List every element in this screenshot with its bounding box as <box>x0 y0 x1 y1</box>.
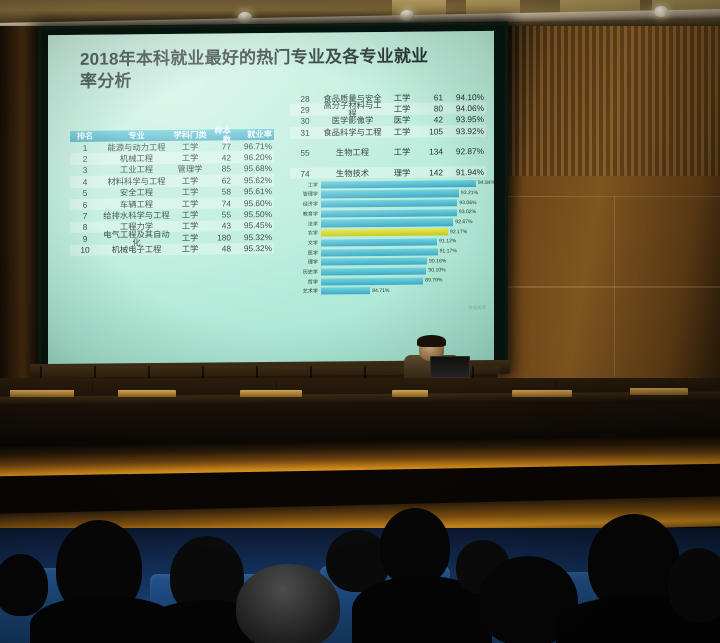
bar-fill <box>321 219 453 227</box>
employment-table-right: 28食品质量与安全工学6194.10%29高分子材料与工程工学8094.06%3… <box>290 91 486 188</box>
cell-discipline: 工学 <box>173 245 207 254</box>
right-wall-slats <box>498 26 720 176</box>
bar-value-label: 89.79% <box>425 278 442 284</box>
cell-rank: 2 <box>70 155 100 164</box>
cell-rate: 95.45% <box>234 221 274 230</box>
cell-major: 材料科学与工程 <box>100 177 173 186</box>
cell-rank: 74 <box>290 169 320 178</box>
microphone-icon <box>276 381 277 390</box>
cell-rate: 93.92% <box>446 127 486 136</box>
cell-major: 车辆工程 <box>100 199 173 208</box>
lecture-hall-photo: 2018年本科就业最好的热门专业及各专业就业率分析 排名 专业 学科门类 样本数… <box>0 0 720 643</box>
bar-row: 工学94.84% <box>288 179 488 190</box>
bar-track: 90.16% <box>321 257 488 266</box>
cell-discipline: 工学 <box>385 93 419 102</box>
bar-category-label: 教育学 <box>288 210 321 217</box>
bar-value-label: 94.84% <box>478 180 494 186</box>
bar-row: 艺术学84.71% <box>288 285 488 296</box>
bar-category-label: 经济学 <box>288 201 321 208</box>
bar-fill <box>321 267 426 275</box>
cell-discipline: 工学 <box>385 148 419 157</box>
cell-major: 医学影像学 <box>320 116 385 125</box>
cell-sample: 142 <box>419 168 446 177</box>
cell-rank: 29 <box>290 105 320 114</box>
wall-seam <box>498 286 720 288</box>
cell-rank: 7 <box>70 212 100 221</box>
ceiling-spotlight-icon <box>238 12 252 23</box>
cell-rank: 10 <box>70 246 100 255</box>
cell-rate: 95.68% <box>234 164 274 173</box>
bar-category-label: 哲学 <box>288 278 321 285</box>
bar-fill <box>321 190 459 199</box>
employment-table-left: 排名 专业 学科门类 样本数 就业率 1能源与动力工程工学7796.71%2机械… <box>70 129 274 256</box>
cell-rate: 95.50% <box>234 210 274 219</box>
slide-title: 2018年本科就业最好的热门专业及各专业就业率分析 <box>80 45 430 93</box>
cell-rank: 8 <box>70 223 100 232</box>
cell-rank: 6 <box>70 200 100 209</box>
discipline-employment-bar-chart: 工学94.84%管理学93.21%经济学93.06%教育学93.02%法学92.… <box>288 179 488 311</box>
col-rank: 排名 <box>70 132 100 141</box>
cell-sample: 134 <box>419 147 446 156</box>
cell-sample: 80 <box>419 104 446 113</box>
bar-value-label: 91.17% <box>440 248 457 254</box>
microphone-icon <box>556 380 557 389</box>
cell-sample: 42 <box>419 116 446 125</box>
cell-rate: 95.60% <box>234 198 274 207</box>
cell-discipline: 工学 <box>173 199 207 208</box>
nameplate <box>118 390 176 397</box>
cell-discipline: 理学 <box>385 168 419 177</box>
bar-track: 91.17% <box>321 247 488 256</box>
chart-watermark: 数据来源 <box>468 305 486 311</box>
bar-value-label: 91.12% <box>439 239 456 245</box>
bar-row: 法学92.67% <box>288 218 488 229</box>
cell-rate: 94.06% <box>446 104 486 113</box>
bar-category-label: 艺术学 <box>288 288 321 295</box>
cell-sample: 62 <box>207 176 234 185</box>
cell-discipline: 工学 <box>173 233 207 242</box>
bar-row: 教育学93.02% <box>288 208 488 219</box>
ceiling-spotlight-icon <box>400 10 414 21</box>
audience-head <box>380 508 450 586</box>
bar-track: 93.21% <box>321 189 488 198</box>
cell-major: 食品科学与工程 <box>320 128 385 137</box>
projection-screen: 2018年本科就业最好的热门专业及各专业就业率分析 排名 专业 学科门类 样本数… <box>48 31 494 365</box>
bar-row: 理学90.16% <box>288 256 488 267</box>
bar-track: 89.79% <box>321 277 488 286</box>
cell-rank: 55 <box>290 149 320 158</box>
nameplate <box>240 390 302 397</box>
bar-fill <box>321 209 457 217</box>
bar-track: 91.12% <box>321 238 488 247</box>
bar-row: 经济学93.06% <box>288 198 488 209</box>
bar-category-label: 工学 <box>288 181 321 188</box>
cell-major: 机械电子工程 <box>100 245 173 254</box>
cell-major: 生物技术 <box>320 168 385 177</box>
bar-fill <box>321 180 476 189</box>
bar-fill <box>321 277 423 285</box>
bar-fill <box>321 248 438 256</box>
col-rate: 就业率 <box>234 130 274 139</box>
bar-fill <box>321 199 457 207</box>
cell-sample: 55 <box>207 210 234 219</box>
cell-rate: 95.62% <box>234 176 274 185</box>
cell-major: 机械工程 <box>100 154 173 163</box>
cell-rank: 28 <box>290 94 320 103</box>
bar-track: 93.02% <box>321 209 488 218</box>
cell-rank: 4 <box>70 177 100 186</box>
bar-fill <box>321 238 437 246</box>
cell-sample: 48 <box>207 244 234 253</box>
audience-head <box>668 548 720 622</box>
bar-row: 文学91.12% <box>288 237 488 248</box>
cell-major: 工业工程 <box>100 165 173 174</box>
nameplate <box>630 388 688 395</box>
bar-row: 医学91.17% <box>288 247 488 258</box>
cell-rate: 93.95% <box>446 115 486 124</box>
cell-discipline: 工学 <box>385 127 419 136</box>
bar-value-label: 93.02% <box>459 209 476 215</box>
cell-sample: 61 <box>419 93 446 102</box>
bar-value-label: 90.10% <box>428 268 445 274</box>
cell-rate: 95.32% <box>234 244 274 253</box>
cell-sample: 74 <box>207 199 234 208</box>
cell-major: 安全工程 <box>100 188 173 197</box>
nameplate <box>512 390 572 397</box>
cell-discipline: 工学 <box>385 105 419 114</box>
cell-rank: 3 <box>70 166 100 175</box>
ceiling-spotlight-icon <box>654 6 668 17</box>
cell-discipline: 工学 <box>173 222 207 231</box>
cell-rate: 95.61% <box>234 187 274 196</box>
presentation-slide: 2018年本科就业最好的热门专业及各专业就业率分析 排名 专业 学科门类 样本数… <box>48 31 494 365</box>
cell-sample: 58 <box>207 187 234 196</box>
cell-rank: 5 <box>70 189 100 198</box>
bar-track: 94.84% <box>321 180 488 189</box>
cell-rate: 96.71% <box>234 142 274 151</box>
bar-value-label: 90.16% <box>429 258 446 264</box>
bar-value-label: 92.17% <box>450 229 467 235</box>
cell-rate: 92.87% <box>446 147 486 156</box>
projection-screen-frame: 2018年本科就业最好的热门专业及各专业就业率分析 排名 专业 学科门类 样本数… <box>38 22 508 377</box>
bar-category-label: 医学 <box>288 249 321 256</box>
wall-seam <box>614 196 615 376</box>
cell-rate: 96.20% <box>234 153 274 162</box>
cell-major: 能源与动力工程 <box>100 143 173 152</box>
col-discipline: 学科门类 <box>173 131 207 140</box>
bar-category-label: 历史学 <box>288 269 321 276</box>
cell-discipline: 管理学 <box>173 165 207 174</box>
cell-major: 生物工程 <box>320 148 385 157</box>
bar-category-label: 农学 <box>288 230 321 237</box>
bar-track: 92.17% <box>321 228 488 237</box>
bar-category-label: 文学 <box>288 239 321 246</box>
presenter-hair <box>417 335 446 347</box>
wall-seam <box>498 196 720 197</box>
cell-discipline: 工学 <box>173 211 207 220</box>
cell-rank: 31 <box>290 128 320 137</box>
cell-discipline: 工学 <box>173 142 207 151</box>
nameplate <box>10 390 74 397</box>
bar-value-label: 93.21% <box>461 190 478 196</box>
bar-value-label: 93.06% <box>459 200 476 206</box>
cell-major: 给排水科学与工程 <box>100 211 173 220</box>
microphone-icon <box>92 382 93 391</box>
cell-sample: 180 <box>207 233 234 242</box>
bar-track: 92.67% <box>321 218 488 227</box>
audience-head-gray <box>236 564 340 643</box>
cell-discipline: 工学 <box>173 176 207 185</box>
bar-row: 哲学89.79% <box>288 276 488 287</box>
bar-track: 84.71% <box>321 286 488 295</box>
bar-row: 管理学93.21% <box>288 189 488 200</box>
cell-sample: 105 <box>419 127 446 136</box>
bar-fill <box>321 258 427 266</box>
bar-value-label: 84.71% <box>372 288 389 294</box>
bar-category-label: 管理学 <box>288 191 321 198</box>
nameplate <box>392 390 428 397</box>
cell-sample: 43 <box>207 222 234 231</box>
bar-fill <box>321 228 448 236</box>
bar-fill <box>321 287 370 295</box>
cell-rank: 1 <box>70 143 100 152</box>
bar-track: 93.06% <box>321 199 488 208</box>
bar-category-label: 法学 <box>288 220 321 227</box>
cell-discipline: 工学 <box>173 188 207 197</box>
cell-rank: 30 <box>290 117 320 126</box>
bar-row: 农学92.17% <box>288 227 488 238</box>
cell-rank: 9 <box>70 234 100 243</box>
col-major: 专业 <box>100 131 173 140</box>
cell-rate: 94.10% <box>446 93 486 102</box>
cell-sample: 85 <box>207 165 234 174</box>
cell-rate: 91.94% <box>446 167 486 176</box>
cell-sample: 42 <box>207 153 234 162</box>
cell-discipline: 医学 <box>385 116 419 125</box>
cell-sample: 77 <box>207 142 234 151</box>
audience-head <box>0 554 48 616</box>
bar-row: 历史学90.10% <box>288 266 488 277</box>
bar-category-label: 理学 <box>288 259 321 266</box>
bar-track: 90.10% <box>321 267 488 276</box>
cell-discipline: 工学 <box>173 154 207 163</box>
bar-value-label: 92.67% <box>455 219 472 225</box>
cell-rate: 95.32% <box>234 233 274 242</box>
laptop <box>430 356 470 378</box>
